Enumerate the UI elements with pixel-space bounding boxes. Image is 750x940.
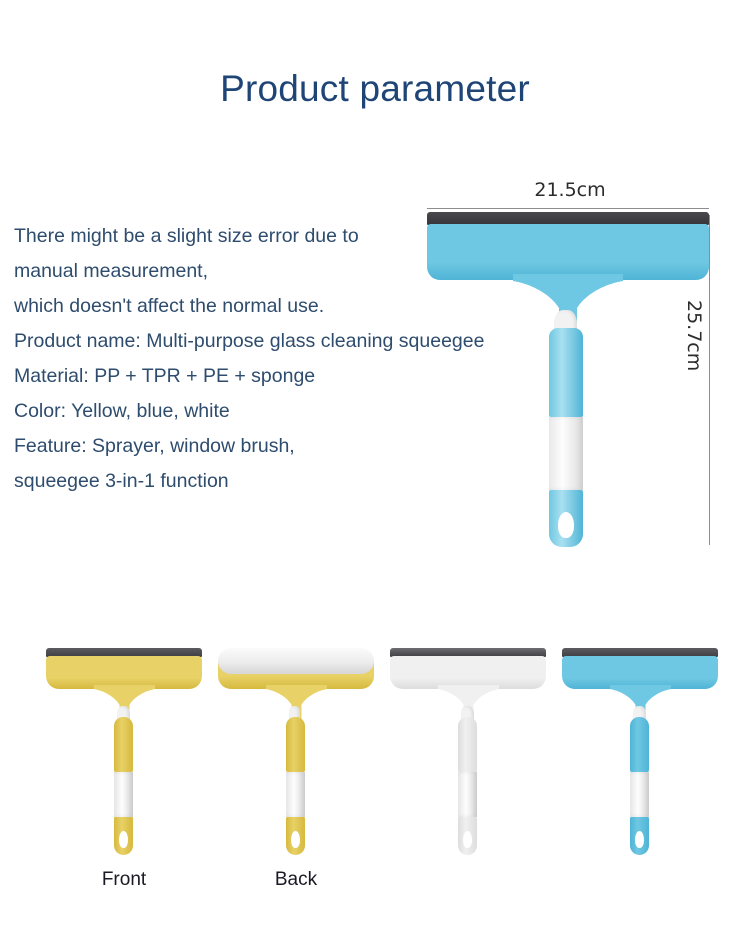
- variant-caption-front: Front: [64, 869, 184, 891]
- page-title: Product parameter: [0, 68, 750, 110]
- variant-caption-back: Back: [236, 869, 356, 891]
- hanging-hole-icon: [463, 831, 472, 848]
- dimension-width-line: [427, 208, 709, 209]
- dimension-height-line: [709, 215, 710, 545]
- product-parameter-page: Product parameter There might be a sligh…: [0, 0, 750, 940]
- variant-thumbnail-white: [390, 648, 546, 855]
- hero-product-image-blue-squeegee: [427, 212, 709, 547]
- squeegee-sponge-pad-icon: [218, 648, 374, 674]
- dimension-width-label: 21.5cm: [430, 179, 710, 201]
- hanging-hole-icon: [635, 831, 644, 848]
- handle-reservoir-section: [630, 772, 649, 817]
- handle-upper-section: [114, 717, 133, 772]
- handle-upper-section: [549, 328, 583, 417]
- handle-reservoir-section: [114, 772, 133, 817]
- spec-line-size-error-2: manual measurement,: [14, 254, 424, 289]
- variant-thumbnail-back-yellow: [218, 648, 374, 855]
- handle-upper-section: [458, 717, 477, 772]
- hanging-hole-icon: [291, 831, 300, 848]
- spec-line-feature-2: squeegee 3-in-1 function: [14, 464, 424, 499]
- handle-upper-section: [630, 717, 649, 772]
- variant-thumbnail-blue: [562, 648, 718, 855]
- spec-line-product-name: Product name: Multi-purpose glass cleani…: [14, 324, 424, 359]
- specification-text-block: There might be a slight size error due t…: [14, 219, 424, 499]
- handle-reservoir-section: [549, 417, 583, 490]
- spec-line-size-error-3: which doesn't affect the normal use.: [14, 289, 424, 324]
- handle-upper-section: [286, 717, 305, 772]
- spec-line-feature-1: Feature: Sprayer, window brush,: [14, 429, 424, 464]
- handle-reservoir-section: [286, 772, 305, 817]
- squeegee-head: [427, 224, 709, 280]
- handle-reservoir-section: [458, 772, 477, 817]
- variant-thumbnail-front-yellow: [46, 648, 202, 855]
- spec-line-material: Material: PP + TPR + PE + sponge: [14, 359, 424, 394]
- spec-line-size-error-1: There might be a slight size error due t…: [14, 219, 424, 254]
- spec-line-color: Color: Yellow, blue, white: [14, 394, 424, 429]
- hanging-hole-icon: [119, 831, 128, 848]
- hanging-hole-icon: [558, 512, 574, 538]
